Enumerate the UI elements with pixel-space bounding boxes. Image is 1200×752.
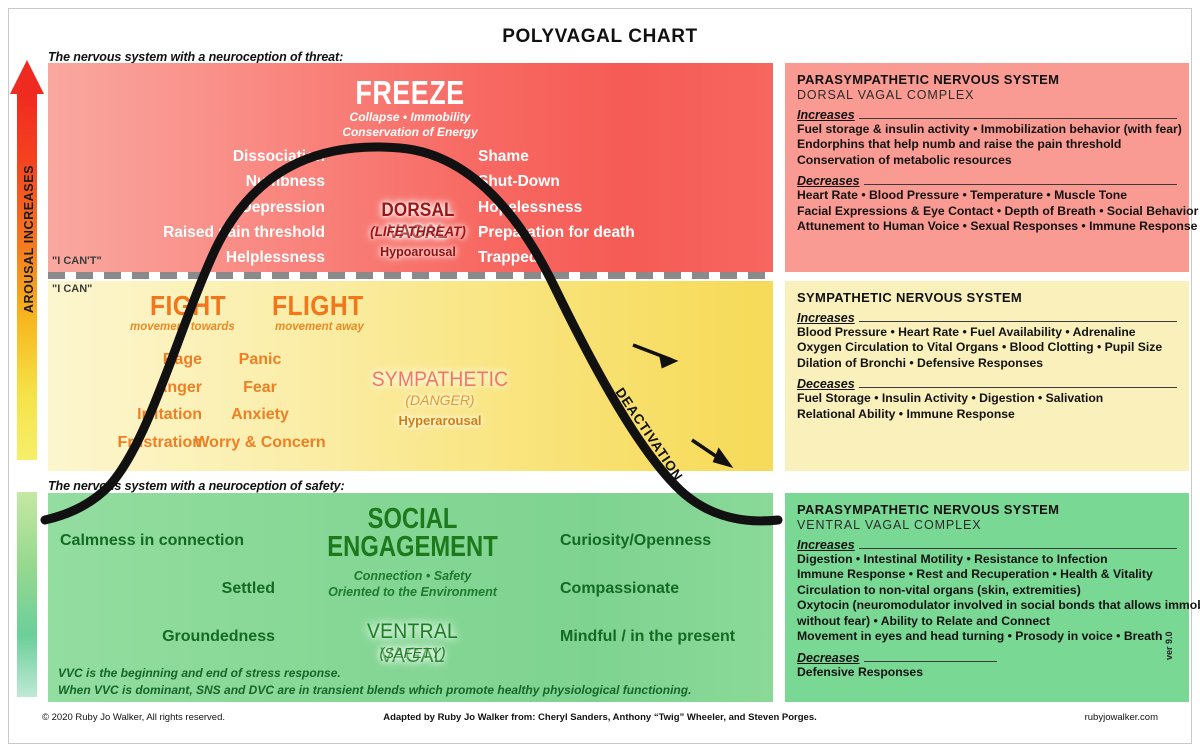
arousal-arrow: AROUSAL INCREASES <box>10 60 44 460</box>
threshold-label-can: "I CAN" <box>52 283 92 295</box>
panel-title: PARASYMPATHETIC NERVOUS SYSTEM <box>797 502 1177 517</box>
ventral-vagal-context: (SAFETY) <box>330 646 495 662</box>
social-word: Compassionate <box>560 581 775 597</box>
caption-safety: The nervous system with a neuroception o… <box>48 479 345 493</box>
panel-line: Oxygen Circulation to Vital Organs • Blo… <box>797 340 1177 355</box>
fight-words: Rage Anger Irritation Frustration <box>70 346 202 456</box>
freeze-word: Trapped <box>478 245 723 270</box>
panel-line: Circulation to non-vital organs (skin, e… <box>797 583 1177 598</box>
dorsal-vagal-context: (LIFE THREAT) <box>348 224 488 239</box>
mobilization-word: Anxiety <box>186 401 334 429</box>
page-title: POLYVAGAL CHART <box>0 26 1200 48</box>
safety-gradient-bar <box>17 492 37 697</box>
freeze-words-left: Dissociation Numbness Depression Raised … <box>110 144 325 270</box>
panel-ventral-vagal: PARASYMPATHETIC NERVOUS SYSTEM VENTRAL V… <box>785 493 1189 702</box>
panel-line: Facial Expressions & Eye Contact • Depth… <box>797 204 1177 219</box>
panel-decreases-header: Decreases <box>797 174 1177 188</box>
mobilization-word: Rage <box>70 346 202 374</box>
panel-increases-header: Increases <box>797 538 1177 552</box>
mobilization-word: Irritation <box>70 401 202 429</box>
panel-decreases-list: Fuel Storage • Insulin Activity • Digest… <box>797 391 1177 422</box>
footer: © 2020 Ruby Jo Walker, All rights reserv… <box>0 712 1200 736</box>
social-word: Calmness in connection <box>60 533 275 549</box>
social-subtitle: Connection • Safety Oriented to the Envi… <box>300 568 525 601</box>
decreases-label: Deceases <box>797 377 859 391</box>
rule <box>859 548 1177 549</box>
fight-heading: FIGHT <box>150 290 226 322</box>
panel-decreases-header: Deceases <box>797 377 1177 391</box>
panel-line: Blood Pressure • Heart Rate • Fuel Avail… <box>797 325 1177 340</box>
panel-line: Endorphins that help numb and raise the … <box>797 137 1177 152</box>
arrow-up-icon <box>10 60 44 94</box>
panel-increases-list: Digestion • Intestinal Motility • Resist… <box>797 552 1177 645</box>
rule <box>864 661 997 662</box>
panel-title: SYMPATHETIC NERVOUS SYSTEM <box>797 290 1177 305</box>
freeze-heading: FREEZE <box>320 74 500 112</box>
flight-heading: FLIGHT <box>272 290 364 322</box>
freeze-word: Numbness <box>110 169 325 194</box>
panel-line: Dilation of Bronchi • Defensive Response… <box>797 356 1177 371</box>
panel-increases-list: Blood Pressure • Heart Rate • Fuel Avail… <box>797 325 1177 371</box>
flight-words: Panic Fear Anxiety Worry & Concern <box>186 346 334 456</box>
decreases-label: Decreases <box>797 651 864 665</box>
social-heading-line2: ENGAGEMENT <box>324 534 500 562</box>
panel-line: Conservation of metabolic resources <box>797 153 1177 168</box>
freeze-word: Preparation for death <box>478 220 723 245</box>
dorsal-vagal-arousal: Hypoarousal <box>348 245 488 259</box>
panel-dorsal-vagal: PARASYMPATHETIC NERVOUS SYSTEM DORSAL VA… <box>785 63 1189 272</box>
decreases-label: Decreases <box>797 174 864 188</box>
fight-subtitle: movement towards <box>130 321 235 333</box>
freeze-word: Shame <box>478 144 723 169</box>
panel-subtitle: VENTRAL VAGAL COMPLEX <box>797 518 1177 532</box>
vvc-note: VVC is the beginning and end of stress r… <box>58 665 698 700</box>
rule <box>864 184 1177 185</box>
mobilization-word: Worry & Concern <box>186 429 334 457</box>
panel-line: Relational Ability • Immune Response <box>797 407 1177 422</box>
social-word: Curiosity/Openness <box>560 533 775 549</box>
freeze-subtitle-line2: Conservation of Energy <box>300 125 520 140</box>
panel-line: Movement in eyes and head turning • Pros… <box>797 629 1177 644</box>
panel-sympathetic: SYMPATHETIC NERVOUS SYSTEM Increases Blo… <box>785 281 1189 471</box>
freeze-word: Shut-Down <box>478 169 723 194</box>
version-label: ver 9.0 <box>1164 631 1174 660</box>
panel-increases-list: Fuel storage & insulin activity • Immobi… <box>797 122 1177 168</box>
panel-line: Oxytocin (neuromodulator involved in soc… <box>797 598 1177 613</box>
panel-line: Immune Response • Rest and Recuperation … <box>797 567 1177 582</box>
mobilization-word: Frustration <box>70 429 202 457</box>
threshold-label-cant: "I CAN'T" <box>52 255 102 267</box>
arousal-axis-label: AROUSAL INCREASES <box>22 164 36 314</box>
rule <box>859 118 1177 119</box>
mobilization-word: Panic <box>186 346 334 374</box>
social-subtitle-line2: Oriented to the Environment <box>300 584 525 600</box>
freeze-subtitle: Collapse • Immobility Conservation of En… <box>300 110 520 139</box>
panel-title: PARASYMPATHETIC NERVOUS SYSTEM <box>797 72 1177 87</box>
freeze-word: Dissociation <box>110 144 325 169</box>
increases-label: Increases <box>797 311 859 325</box>
caption-threat: The nervous system with a neuroception o… <box>48 50 343 64</box>
freeze-word: Raised pain threshold <box>110 220 325 245</box>
sympathetic-arousal: Hyperarousal <box>340 413 540 428</box>
social-heading-line1: SOCIAL <box>324 506 500 534</box>
panel-line: Digestion • Intestinal Motility • Resist… <box>797 552 1177 567</box>
polyvagal-chart-page: POLYVAGAL CHART The nervous system with … <box>0 0 1200 752</box>
social-engagement-heading: SOCIAL ENGAGEMENT <box>324 506 500 562</box>
panel-decreases-list: Defensive Responses <box>797 665 1177 680</box>
increases-label: Increases <box>797 108 859 122</box>
freeze-word: Depression <box>110 195 325 220</box>
panel-subtitle: DORSAL VAGAL COMPLEX <box>797 88 1177 102</box>
panel-line: Fuel storage & insulin activity • Immobi… <box>797 122 1177 137</box>
social-word: Mindful / in the present <box>560 629 775 645</box>
mobilization-word: Anger <box>70 374 202 402</box>
panel-increases-header: Increases <box>797 108 1177 122</box>
panel-line: Defensive Responses <box>797 665 1177 680</box>
flight-subtitle: movement away <box>275 321 364 333</box>
social-subtitle-line1: Connection • Safety <box>300 568 525 584</box>
footer-website[interactable]: rubyjowalker.com <box>1085 712 1158 723</box>
panel-decreases-list: Heart Rate • Blood Pressure • Temperatur… <box>797 188 1177 234</box>
footer-credit: Adapted by Ruby Jo Walker from: Cheryl S… <box>0 712 1200 723</box>
panel-line: Fuel Storage • Insulin Activity • Digest… <box>797 391 1177 406</box>
social-word: Settled <box>60 581 275 597</box>
rule <box>859 321 1177 322</box>
freeze-word: Hopelessness <box>478 195 723 220</box>
threshold-dashed-line <box>48 272 773 279</box>
panel-line: Attunement to Human Voice • Sexual Respo… <box>797 219 1177 234</box>
freeze-word: Helplessness <box>110 245 325 270</box>
rule <box>859 387 1177 388</box>
vvc-note-line2: When VVC is dominant, SNS and DVC are in… <box>58 682 698 699</box>
panel-line: Heart Rate • Blood Pressure • Temperatur… <box>797 188 1177 203</box>
panel-decreases-header: Decreases <box>797 651 997 665</box>
sympathetic-label: SYMPATHETIC <box>348 368 532 392</box>
vvc-note-line1: VVC is the beginning and end of stress r… <box>58 665 698 682</box>
panel-increases-header: Increases <box>797 311 1177 325</box>
sympathetic-context: (DANGER) <box>340 392 540 408</box>
social-words-right: Curiosity/Openness Compassionate Mindful… <box>560 533 775 677</box>
increases-label: Increases <box>797 538 859 552</box>
social-word: Groundedness <box>60 629 275 645</box>
freeze-words-right: Shame Shut-Down Hopelessness Preparation… <box>478 144 723 270</box>
panel-line: without fear) • Ability to Relate and Co… <box>797 614 1177 629</box>
freeze-subtitle-line1: Collapse • Immobility <box>300 110 520 125</box>
mobilization-word: Fear <box>186 374 334 402</box>
social-words-left: Calmness in connection Settled Groundedn… <box>60 533 275 677</box>
